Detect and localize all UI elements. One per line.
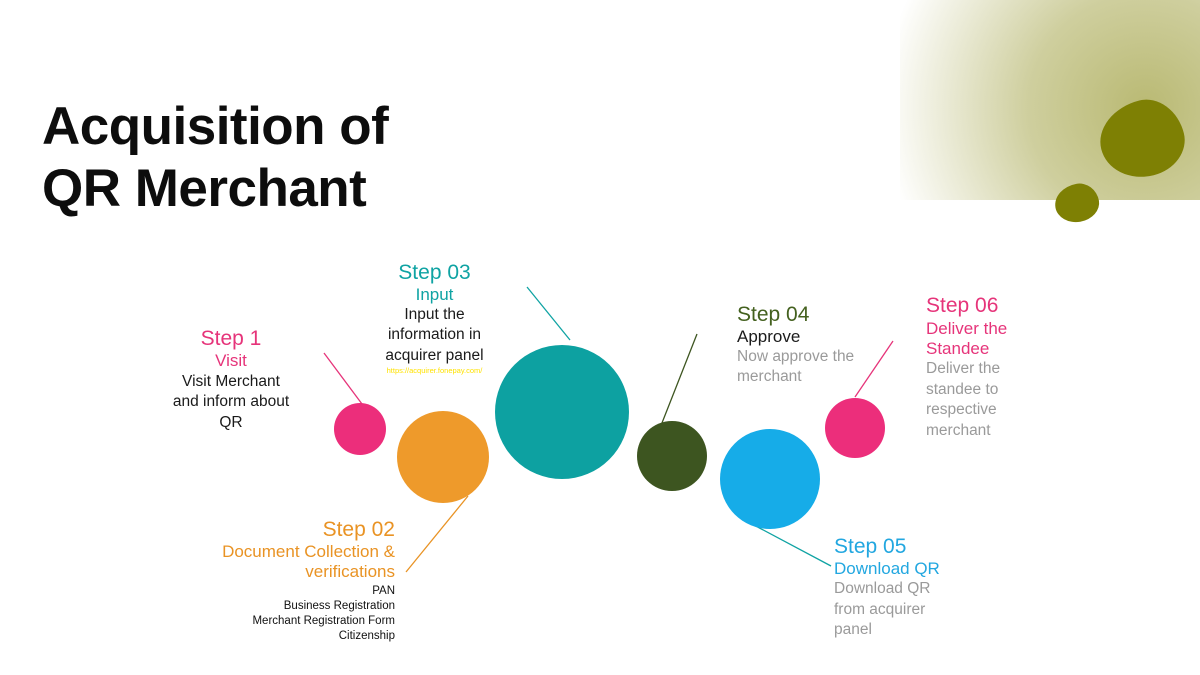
step-5-body: Download QR from acquirer panel [834,579,946,641]
step-3-subtitle: Input [372,285,497,305]
step-5-kicker: Step 05 [834,535,946,559]
step-4-circle [637,421,707,491]
connector-step-3 [527,287,570,340]
step-6-overlay: Deliver the Standee Deliver the standee … [926,319,1036,442]
step-2-kicker: Step 02 [170,518,395,542]
step-3-url[interactable]: https://acquirer.fonepay.com/ [372,366,497,375]
step-block-3: Step 03 Input Input the information in a… [372,261,497,376]
connector-step-2 [406,496,468,572]
step-block-2: Step 02 Document Collection & verificati… [170,518,395,645]
connector-step-5 [752,524,831,566]
step-1-subtitle: Visit [172,351,290,371]
step-2-body: PAN Business Registration Merchant Regis… [170,584,395,645]
step-6-body: Deliver the standee to respective mercha… [926,359,1036,441]
step-2-subtitle: Document Collection & verifications [170,542,395,582]
step-1-circle [334,403,386,455]
step-block-1: Step 1 Visit Visit Merchant and inform a… [172,327,290,433]
step-6-subtitle: Deliver the Standee [926,319,1036,359]
step-6-circle [825,398,885,458]
slide-canvas: Acquisition of QR Merchant Step 1 Visit … [0,0,1200,675]
step-3-circle [495,345,629,479]
connector-step-4 [660,334,697,428]
step-1-body: Visit Merchant and inform about QR [172,372,290,434]
step-5-subtitle: Download QR [834,559,946,579]
step-block-5: Step 05 Download QR Download QR from acq… [834,535,946,579]
step-4-kicker: Step 04 [737,303,862,327]
step-block-4: Step 04 Approve Now approve the merchant [737,303,862,388]
step-2-circle [397,411,489,503]
step-4-subtitle: Approve [737,327,862,347]
step-6-kicker: Step 06 [926,294,1034,318]
step-4-body: Now approve the merchant [737,347,862,388]
connector-step-1 [324,353,362,404]
step-5-circle [720,429,820,529]
step-3-body: Input the information in acquirer panel [372,305,497,367]
step-block-6: Step 06 Deliver the Standee Deliver the … [926,294,1034,318]
step-1-kicker: Step 1 [172,327,290,351]
step-3-kicker: Step 03 [372,261,497,285]
